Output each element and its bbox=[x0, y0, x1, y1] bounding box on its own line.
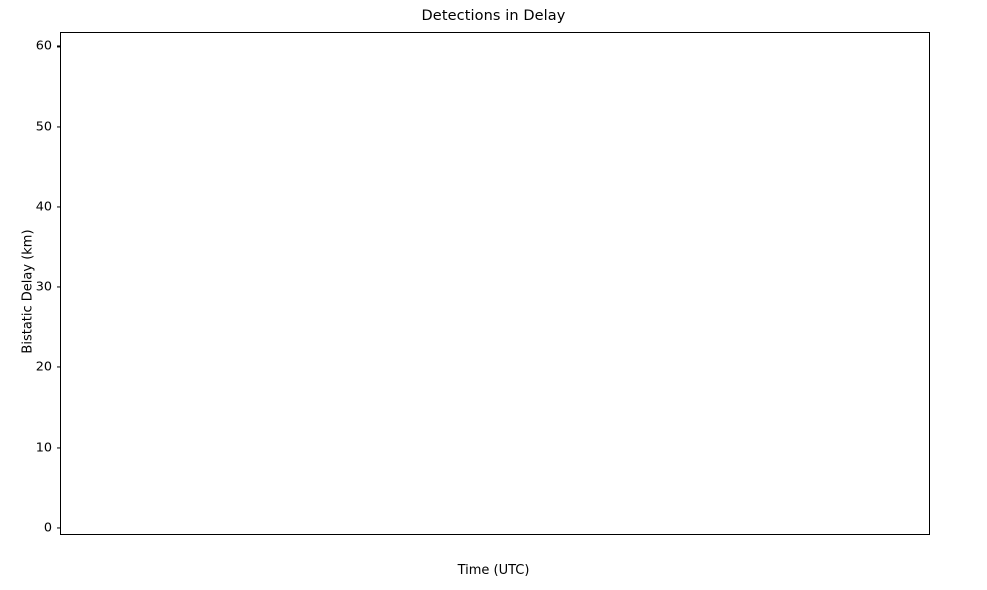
y-tick-mark bbox=[57, 46, 61, 47]
matplotlib-figure: Detections in Delay 0102030405060 2025-0… bbox=[0, 0, 987, 590]
chart-title: Detections in Delay bbox=[0, 8, 987, 24]
x-axis-label: Time (UTC) bbox=[0, 563, 987, 578]
y-tick-mark bbox=[57, 527, 61, 528]
plot-axes bbox=[60, 32, 930, 535]
y-tick-mark bbox=[57, 287, 61, 288]
y-axis-label: Bistatic Delay (km) bbox=[21, 41, 36, 541]
y-tick-mark bbox=[57, 447, 61, 448]
y-tick-mark bbox=[57, 367, 61, 368]
y-tick-mark bbox=[57, 126, 61, 127]
y-tick-mark bbox=[57, 206, 61, 207]
scatter-plot-canvas bbox=[61, 33, 929, 534]
